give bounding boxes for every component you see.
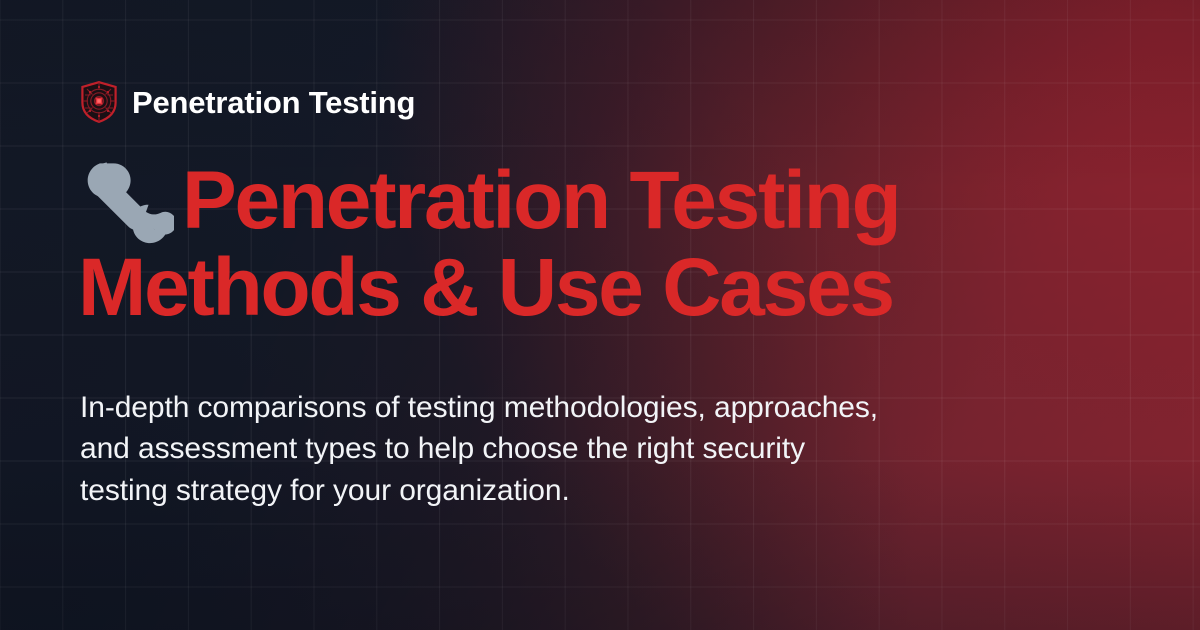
- page-title: Penetration Testing Methods & Use Cases: [78, 158, 1138, 330]
- card-content: Penetration Testing Penetration Testing …: [0, 0, 1200, 630]
- brand-row: Penetration Testing: [80, 79, 415, 125]
- brand-name: Penetration Testing: [132, 87, 415, 118]
- page-subtitle: In-depth comparisons of testing methodol…: [80, 387, 880, 511]
- og-card: Penetration Testing Penetration Testing …: [0, 0, 1200, 630]
- page-title-text: Penetration Testing Methods & Use Cases: [78, 155, 900, 333]
- wrench-icon: [78, 158, 174, 246]
- shield-circuit-icon: [80, 81, 118, 123]
